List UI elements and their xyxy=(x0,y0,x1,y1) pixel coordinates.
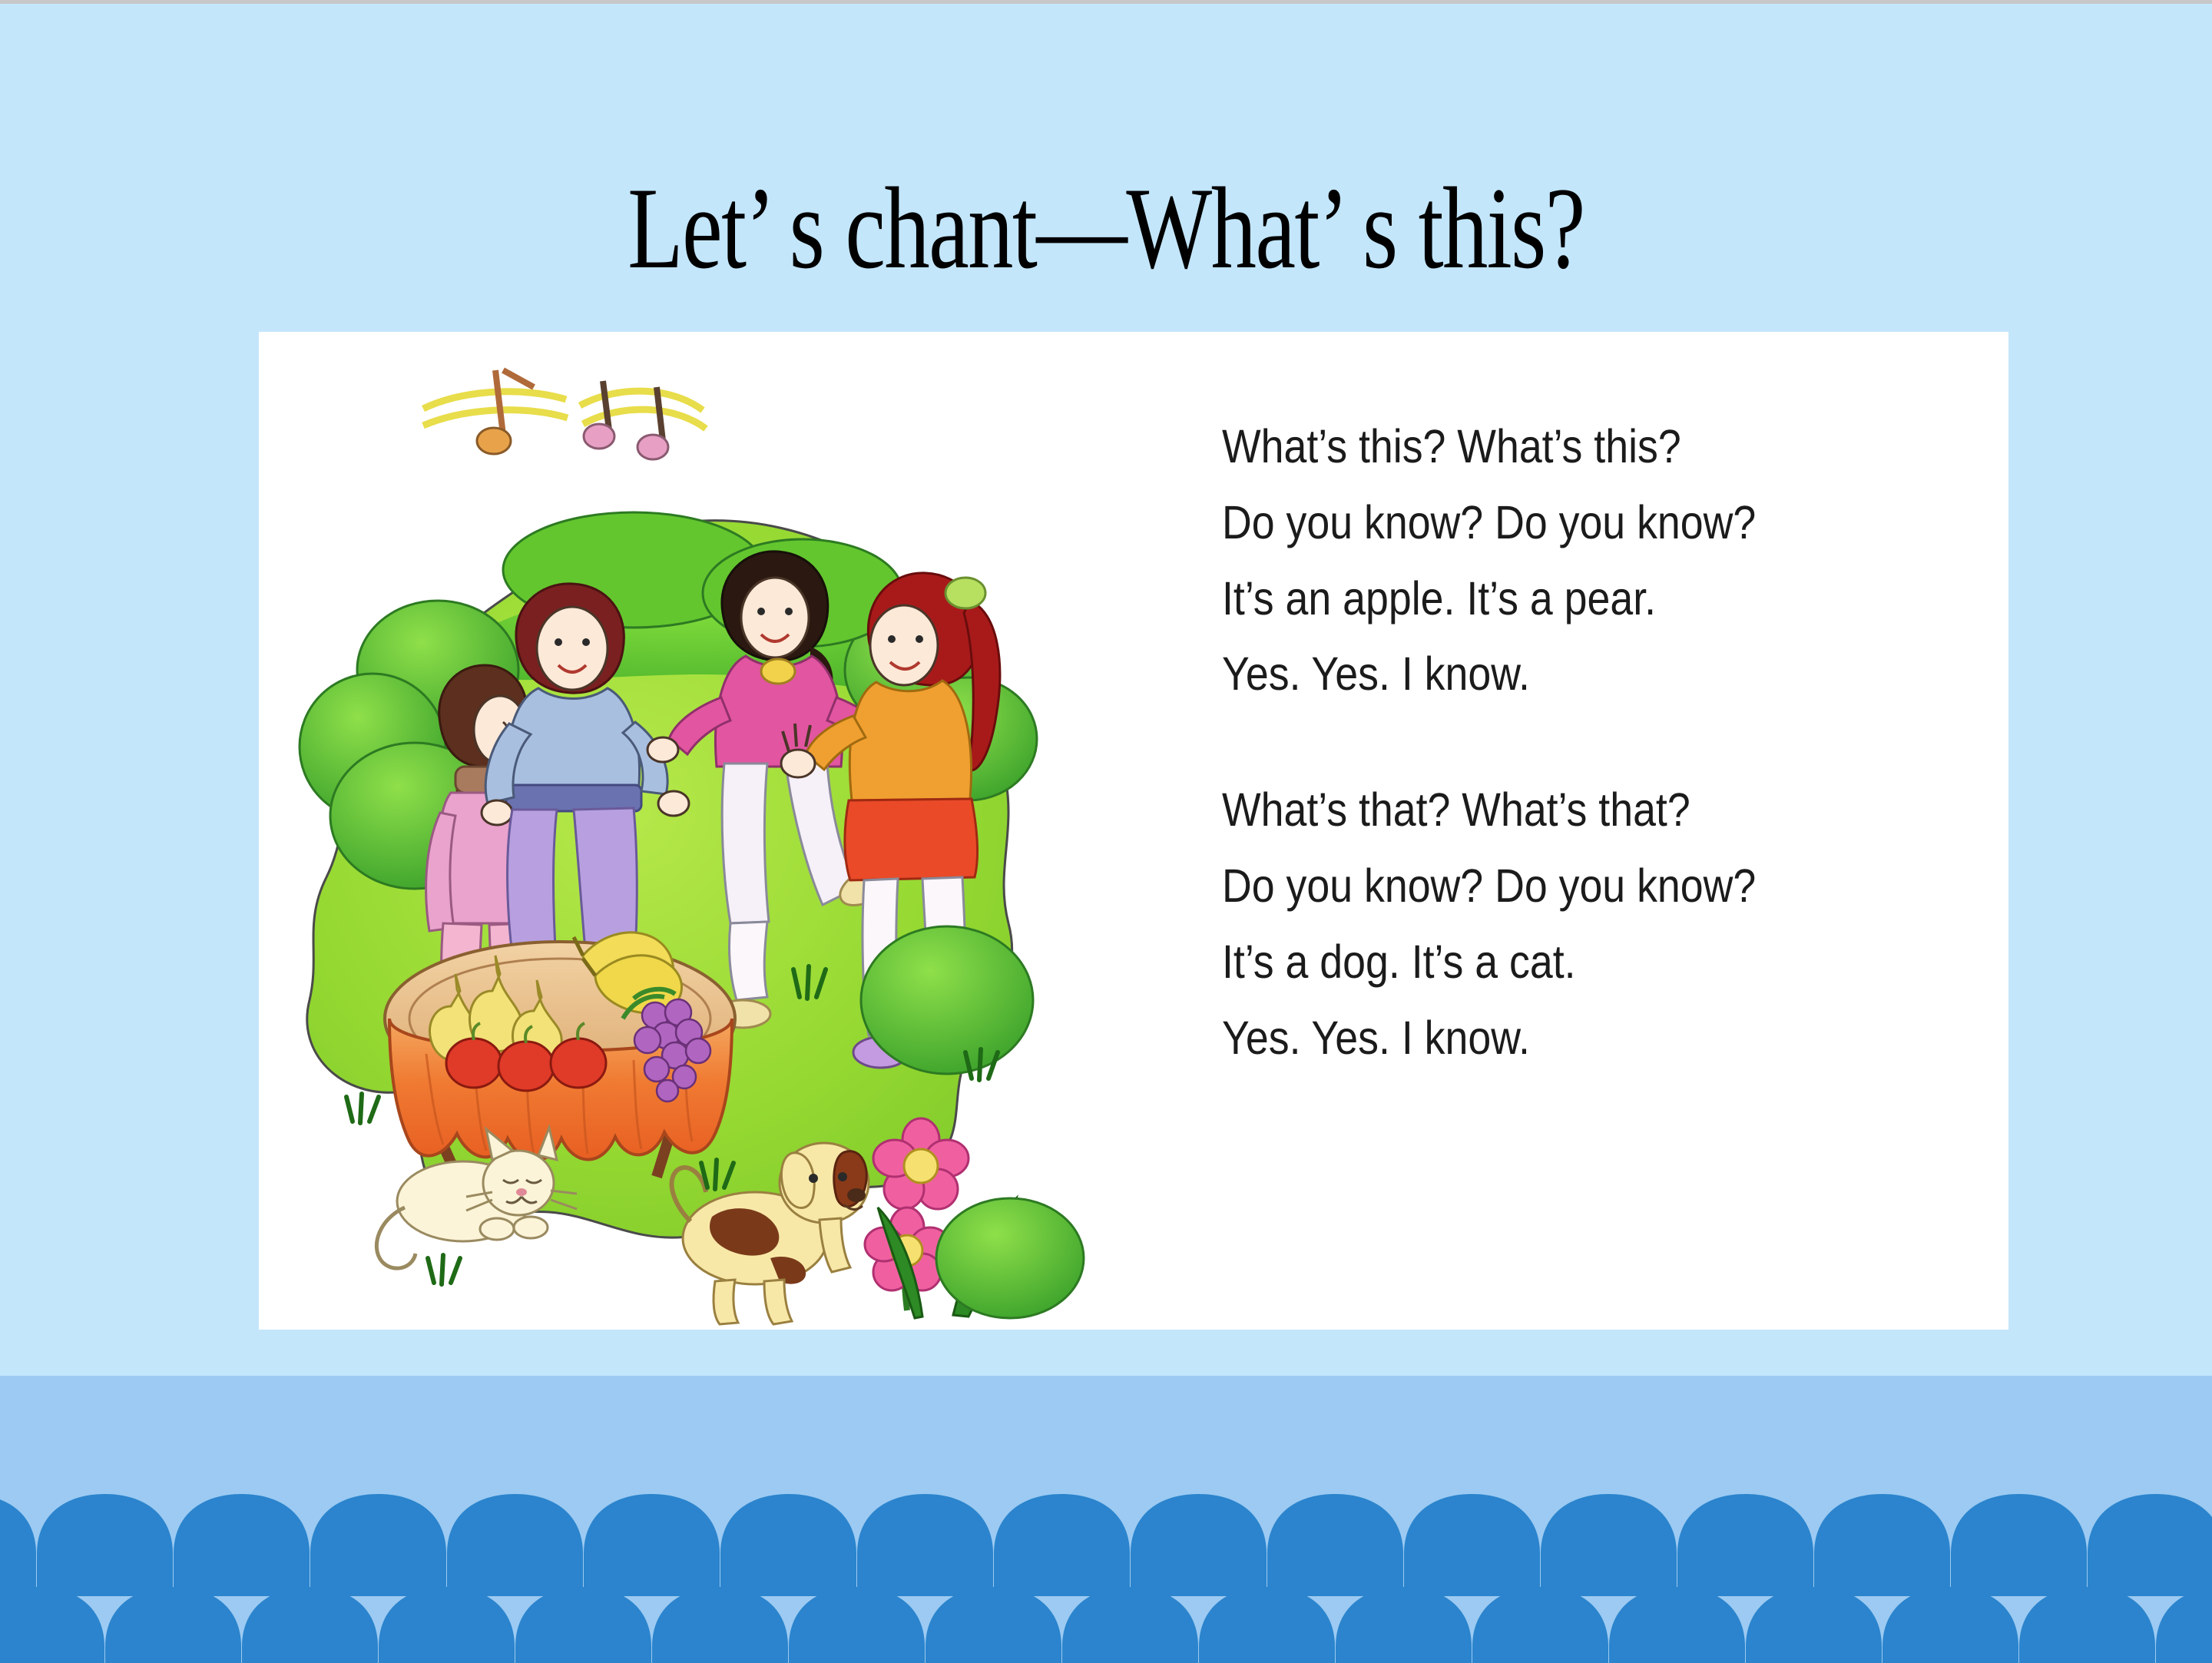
chant-illustration xyxy=(273,340,1179,1327)
chant-line: What’s that? What’s that? xyxy=(1222,772,1905,848)
footer-arch-decoration xyxy=(0,1376,2212,1663)
chant-line: Do you know? Do you know? xyxy=(1222,485,1905,561)
chant-text-block: What’s this? What’s this? Do you know? D… xyxy=(1222,409,1998,1136)
arch-row-1 xyxy=(0,1494,2212,1596)
chant-line: Do you know? Do you know? xyxy=(1222,848,1905,924)
chant-line: It’s a dog. It’s a cat. xyxy=(1222,924,1905,1000)
content-panel: What’s this? What’s this? Do you know? D… xyxy=(259,332,2008,1330)
chant-stanza-1: What’s this? What’s this? Do you know? D… xyxy=(1222,409,1998,712)
page-title: Let’ s chant—What’ s this? xyxy=(243,170,1969,287)
chant-line: Yes. Yes. I know. xyxy=(1222,636,1905,712)
slide-canvas: Let’ s chant—What’ s this? xyxy=(0,4,2212,1659)
chant-line: Yes. Yes. I know. xyxy=(1222,1000,1905,1076)
screenshot-top-artifact xyxy=(0,0,2212,4)
chant-line: What’s this? What’s this? xyxy=(1222,409,1905,485)
chant-stanza-2: What’s that? What’s that? Do you know? D… xyxy=(1222,772,1998,1075)
chant-line: It’s an apple. It’s a pear. xyxy=(1222,561,1905,637)
